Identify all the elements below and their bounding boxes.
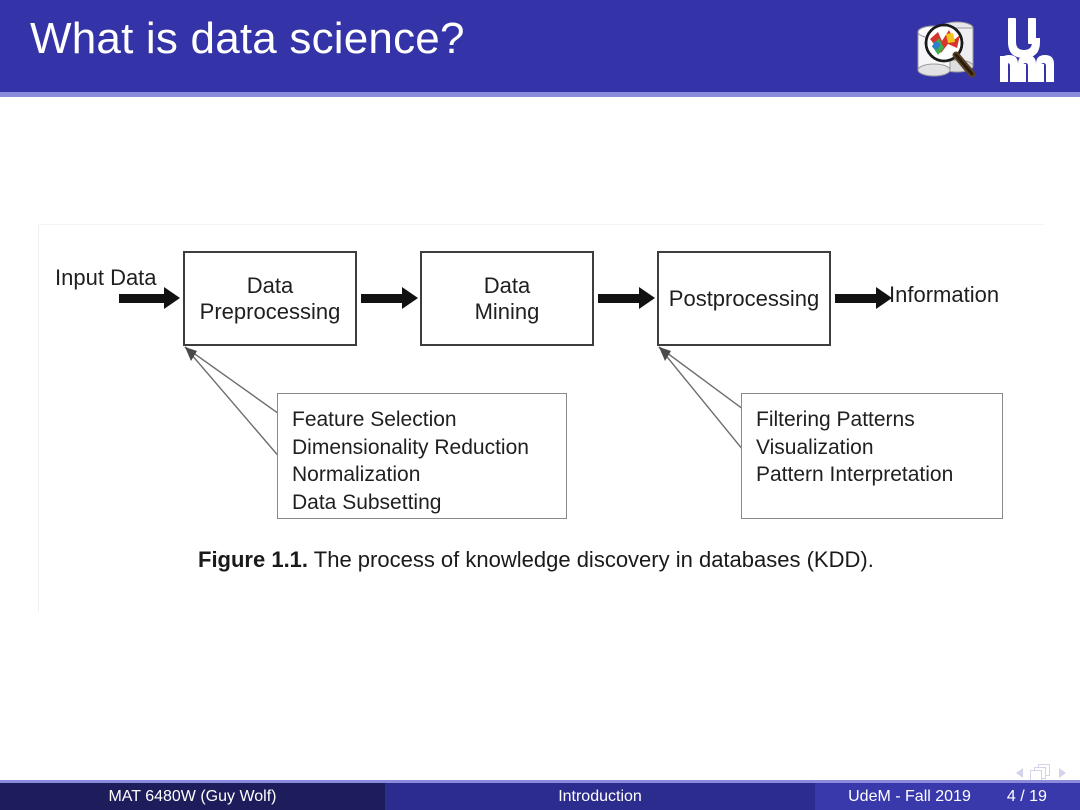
callout-left-item: Dimensionality Reduction xyxy=(292,434,566,462)
callout-left-item: Feature Selection xyxy=(292,406,566,434)
header-underline xyxy=(0,92,1080,97)
process-box-postprocessing: Postprocessing xyxy=(657,251,831,346)
callout-right-item: Filtering Patterns xyxy=(756,406,1002,434)
callout-postprocessing-tasks: Filtering Patterns Visualization Pattern… xyxy=(741,393,1003,519)
udem-logo-icon xyxy=(994,12,1068,86)
input-data-label: Input Data xyxy=(55,265,157,291)
triangle-left-icon[interactable] xyxy=(1016,768,1023,778)
kdd-process-figure: Input Data Data Preprocessing Data Minin… xyxy=(38,224,1044,612)
preprocessing-line2: Preprocessing xyxy=(200,299,341,325)
logo-group xyxy=(902,4,1072,90)
data-mining-logo-icon xyxy=(908,8,986,88)
callout-left-item: Data Subsetting xyxy=(292,489,566,517)
page-title: What is data science? xyxy=(30,14,465,64)
input-data-line2: Data xyxy=(110,265,156,290)
input-data-line1: Input xyxy=(55,265,104,290)
footer-institution: UdeM - Fall 2019 xyxy=(848,788,971,806)
postprocessing-line1: Postprocessing xyxy=(669,286,819,312)
information-label: Information xyxy=(889,282,999,308)
figure-caption: Figure 1.1. The process of knowledge dis… xyxy=(198,547,874,573)
arrow-input-to-preprocessing xyxy=(119,294,165,303)
callout-right-item: Pattern Interpretation xyxy=(756,461,1002,489)
slide-footer: MAT 6480W (Guy Wolf) Introduction UdeM -… xyxy=(0,783,1080,810)
arrow-mining-to-postprocessing xyxy=(598,294,640,303)
footer-author: MAT 6480W (Guy Wolf) xyxy=(0,783,385,810)
callout-preprocessing-tasks: Feature Selection Dimensionality Reducti… xyxy=(277,393,567,519)
preprocessing-line1: Data xyxy=(247,273,293,299)
process-box-preprocessing: Data Preprocessing xyxy=(183,251,357,346)
process-box-data-mining: Data Mining xyxy=(420,251,594,346)
arrow-preprocessing-to-mining xyxy=(361,294,403,303)
arrow-postprocessing-to-information xyxy=(835,294,877,303)
triangle-right-icon[interactable] xyxy=(1059,768,1066,778)
footer-page-number: 4 / 19 xyxy=(1007,788,1047,806)
callout-left-item: Normalization xyxy=(292,461,566,489)
mining-line2: Mining xyxy=(475,299,540,325)
figure-caption-label: Figure 1.1. xyxy=(198,547,308,572)
slide-canvas: What is data science? xyxy=(0,0,1080,810)
callout-right-item: Visualization xyxy=(756,434,1002,462)
footer-section: Introduction xyxy=(385,783,815,810)
mining-line1: Data xyxy=(484,273,530,299)
figure-caption-text: The process of knowledge discovery in da… xyxy=(314,547,874,572)
footer-meta: UdeM - Fall 2019 4 / 19 xyxy=(815,783,1080,810)
